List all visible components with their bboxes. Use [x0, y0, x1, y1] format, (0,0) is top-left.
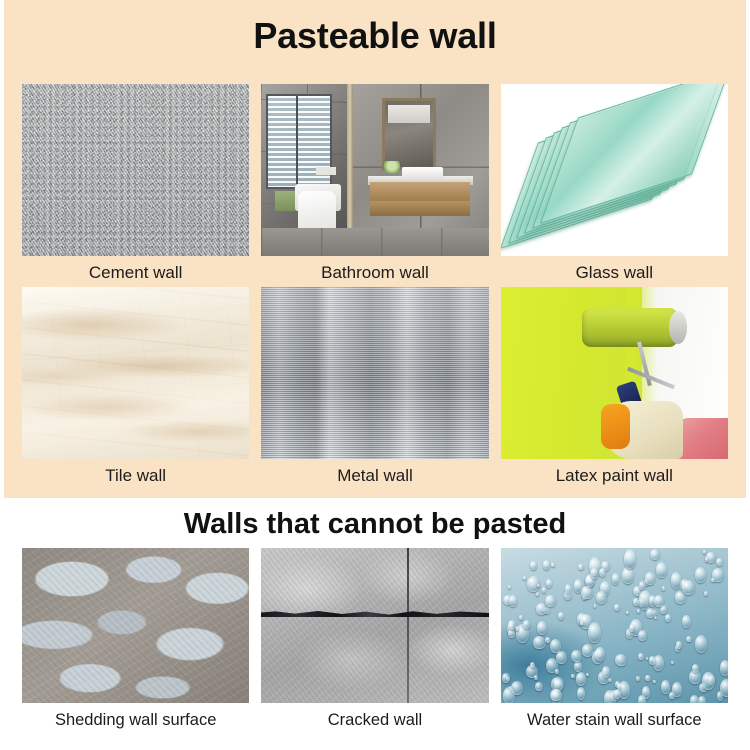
water-droplet	[565, 584, 571, 594]
water-droplet	[596, 591, 607, 604]
water-droplet	[622, 567, 633, 584]
water-droplet	[615, 654, 627, 666]
pasteable-row-1: Cement wall	[22, 84, 728, 288]
cement-texture-image	[22, 84, 249, 256]
cell-latex-paint-wall: Latex paint wall	[501, 287, 728, 491]
water-droplet	[543, 560, 550, 570]
water-droplet	[695, 567, 706, 583]
water-droplet	[720, 679, 728, 698]
water-droplet	[646, 657, 648, 660]
caption-cracked-wall: Cracked wall	[261, 703, 488, 735]
water-droplet	[523, 620, 530, 629]
water-droplet	[519, 615, 522, 620]
paint-roller-image	[501, 287, 728, 459]
water-droplet	[650, 549, 660, 560]
water-droplet	[704, 591, 709, 596]
cell-cement-wall: Cement wall	[22, 84, 249, 288]
water-droplet	[720, 660, 728, 676]
bathroom-vanity-lower-drawer	[370, 201, 470, 216]
brushed-metal-image	[261, 287, 488, 459]
water-droplet	[671, 572, 682, 589]
water-droplet	[515, 626, 518, 631]
water-droplet	[536, 592, 539, 596]
caption-bathroom-wall: Bathroom wall	[261, 256, 488, 288]
caption-shedding-wall-surface: Shedding wall surface	[22, 703, 249, 735]
water-droplet	[690, 695, 699, 703]
water-droplet	[653, 680, 656, 683]
cell-metal-wall: Metal wall	[261, 287, 488, 491]
not-pasteable-section-title: Walls that cannot be pasted	[0, 505, 750, 543]
water-droplet	[638, 695, 646, 703]
cell-water-stain-wall-surface: Water stain wall surface	[501, 548, 728, 735]
water-droplet	[555, 669, 559, 673]
caption-latex-paint-wall: Latex paint wall	[501, 459, 728, 491]
water-droplet	[534, 675, 538, 680]
water-droplet	[551, 563, 555, 567]
pasteable-row-2: Tile wall Metal wall Latex paint wall	[22, 287, 728, 491]
water-droplet	[533, 636, 545, 649]
water-droplet	[574, 661, 582, 673]
water-droplet	[669, 692, 674, 698]
caption-metal-wall: Metal wall	[261, 459, 488, 491]
water-droplet	[686, 636, 692, 642]
water-droplet	[629, 624, 635, 632]
water-droplet	[637, 609, 639, 612]
bathroom-mirror	[382, 98, 437, 170]
section-divider	[0, 498, 750, 504]
water-droplet	[537, 621, 547, 635]
water-droplet	[502, 673, 510, 683]
water-droplet	[542, 587, 546, 593]
bathroom-basin	[402, 167, 443, 179]
water-droplet	[590, 568, 598, 580]
cell-glass-wall: Glass wall	[501, 84, 728, 288]
water-droplet	[530, 561, 536, 570]
cracked-concrete-image	[261, 548, 488, 703]
water-droplet	[578, 564, 583, 570]
water-droplet	[508, 620, 516, 630]
water-droplet	[676, 641, 681, 649]
cell-cracked-wall: Cracked wall	[261, 548, 488, 735]
water-droplet	[595, 647, 605, 661]
water-droplet	[645, 675, 651, 682]
water-droplet	[614, 604, 620, 611]
bathroom-flush-panel	[316, 167, 336, 176]
water-droplet	[624, 549, 636, 569]
water-droplet	[535, 682, 543, 690]
water-droplet	[576, 672, 586, 685]
bathroom-plant	[384, 161, 400, 173]
water-droplets-image	[501, 548, 728, 703]
horizontal-crack-line	[261, 610, 488, 617]
water-droplet	[558, 612, 564, 620]
cell-shedding-wall-surface: Shedding wall surface	[22, 548, 249, 735]
water-droplet	[580, 621, 583, 625]
water-droplet	[508, 629, 515, 638]
caption-cement-wall: Cement wall	[22, 256, 249, 288]
window-frame-mullion	[296, 96, 298, 187]
water-droplet	[661, 680, 670, 694]
caption-water-stain-wall-surface: Water stain wall surface	[501, 703, 728, 735]
water-droplet	[556, 651, 567, 664]
water-droplet	[665, 614, 671, 622]
water-droplet	[536, 603, 548, 615]
bathroom-interior-image	[261, 84, 488, 256]
water-droplet	[662, 586, 665, 591]
pasteable-section-title: Pasteable wall	[4, 14, 746, 58]
cell-bathroom-wall: Bathroom wall	[261, 84, 488, 288]
cell-tile-wall: Tile wall	[22, 287, 249, 491]
water-droplet	[636, 676, 640, 681]
water-droplet	[582, 644, 593, 657]
water-droplet	[645, 572, 655, 585]
water-droplet	[508, 585, 512, 589]
paint-roller-sleeve	[582, 308, 677, 348]
caption-glass-wall: Glass wall	[501, 256, 728, 288]
mirror-reflection-highlight	[388, 105, 431, 124]
water-droplet	[698, 696, 706, 703]
vertical-crack-line	[407, 548, 409, 703]
water-droplet	[716, 558, 723, 566]
water-droplet	[530, 662, 535, 668]
painter-glove-cuff	[601, 404, 631, 449]
water-droplet	[639, 581, 645, 590]
water-droplet	[702, 672, 715, 691]
not-pasteable-row-1: Shedding wall surface Cracked wall Water…	[22, 548, 728, 735]
peeling-paint-image	[22, 548, 249, 703]
water-droplet	[692, 664, 699, 673]
water-droplet	[594, 604, 596, 608]
water-droplet	[537, 584, 540, 587]
water-droplet	[612, 573, 619, 584]
water-droplet	[523, 576, 526, 580]
water-droplet	[626, 611, 629, 614]
water-droplet	[695, 635, 708, 653]
water-droplet	[571, 674, 574, 678]
glass-panes-image	[501, 84, 728, 256]
bathroom-floor	[261, 228, 488, 256]
glass-pane-stack	[519, 110, 709, 230]
water-droplet	[571, 650, 582, 663]
water-droplet	[654, 595, 663, 608]
water-droplet	[588, 622, 601, 643]
water-droplet	[577, 687, 585, 700]
water-droplet	[546, 579, 553, 588]
water-droplet	[682, 615, 690, 629]
infographic-page: Pasteable wall Cement wall	[0, 0, 750, 750]
water-droplet	[703, 550, 706, 554]
water-droplet	[581, 586, 592, 599]
water-droplet	[711, 578, 715, 582]
caption-tile-wall: Tile wall	[22, 459, 249, 491]
water-droplet	[586, 673, 589, 676]
water-droplet	[682, 580, 695, 595]
water-droplet	[638, 653, 644, 660]
water-droplet	[550, 689, 561, 701]
water-droplet	[509, 595, 516, 607]
water-droplet	[503, 687, 515, 703]
water-droplet	[646, 608, 655, 618]
marble-tile-image	[22, 287, 249, 459]
water-droplet	[654, 616, 657, 620]
paint-roller-end-cap	[669, 311, 687, 344]
water-droplet	[656, 562, 667, 578]
water-droplet	[599, 568, 606, 577]
water-droplet	[638, 630, 648, 641]
water-droplet	[671, 661, 674, 664]
